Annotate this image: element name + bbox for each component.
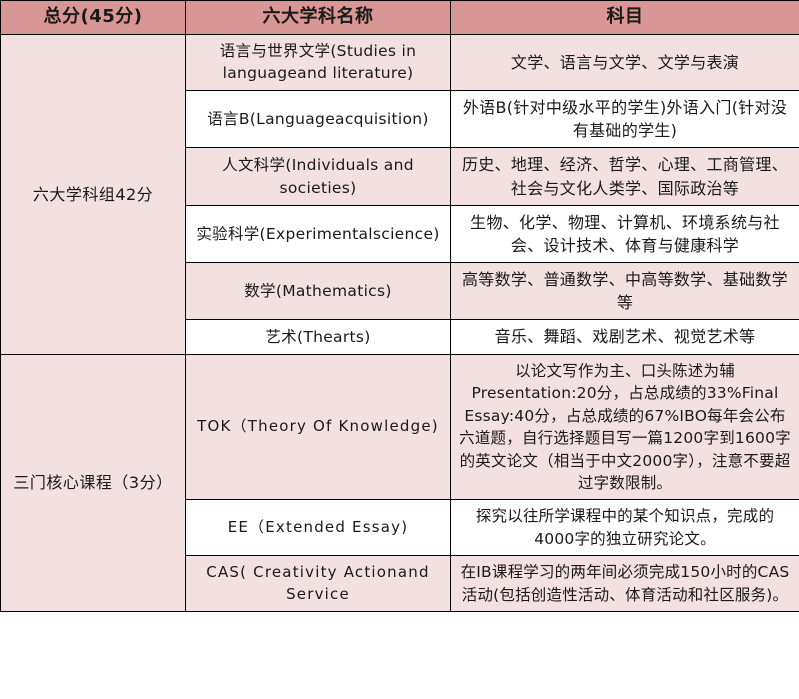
section-label-six-subject-groups: 六大学科组42分 — [1, 35, 186, 355]
core-course-description: 在IB课程学习的两年间必须完成150小时的CAS活动(包括创造性活动、体育活动和… — [451, 556, 799, 612]
subject-list: 文学、语言与文学、文学与表演 — [451, 35, 799, 91]
core-course-name: TOK（Theory Of Knowledge) — [186, 354, 451, 500]
column-header-total-score: 总分(45分) — [1, 1, 186, 35]
table-row: 三门核心课程（3分） TOK（Theory Of Knowledge) 以论文写… — [1, 354, 799, 500]
core-course-description: 以论文写作为主、口头陈述为辅Presentation:20分，占总成绩的33%F… — [451, 354, 799, 500]
subject-group-name: 语言B(Languageacquisition) — [186, 90, 451, 147]
subject-group-name: 艺术(Thearts) — [186, 320, 451, 354]
column-header-subject-group: 六大学科名称 — [186, 1, 451, 35]
section-label-three-core-courses: 三门核心课程（3分） — [1, 354, 186, 612]
core-course-description: 探究以往所学课程中的某个知识点，完成的4000字的独立研究论文。 — [451, 500, 799, 556]
column-header-subjects: 科目 — [451, 1, 799, 35]
header-row: 总分(45分) 六大学科名称 科目 — [1, 1, 799, 35]
subject-list: 外语B(针对中级水平的学生)外语入门(针对没有基础的学生) — [451, 90, 799, 147]
subject-list: 高等数学、普通数学、中高等数学、基础数学等 — [451, 263, 799, 320]
table-header: 总分(45分) 六大学科名称 科目 — [1, 1, 799, 35]
subject-group-name: 人文科学(Individuals and societies) — [186, 148, 451, 205]
subject-list: 音乐、舞蹈、戏剧艺术、视觉艺术等 — [451, 320, 799, 354]
ib-curriculum-table: 总分(45分) 六大学科名称 科目 六大学科组42分 语言与世界文学(Studi… — [0, 0, 799, 612]
subject-list: 历史、地理、经济、哲学、心理、工商管理、社会与文化人类学、国际政治等 — [451, 148, 799, 205]
subject-list: 生物、化学、物理、计算机、环境系统与社会、设计技术、体育与健康科学 — [451, 205, 799, 262]
subject-group-name: 实验科学(Experimentalscience) — [186, 205, 451, 262]
table-row: 六大学科组42分 语言与世界文学(Studies in languageand … — [1, 35, 799, 91]
subject-group-name: 语言与世界文学(Studies in languageand literatur… — [186, 35, 451, 91]
core-course-name: CAS( Creativity Actionand Service — [186, 556, 451, 612]
table-body: 六大学科组42分 语言与世界文学(Studies in languageand … — [1, 35, 799, 612]
core-course-name: EE（Extended Essay) — [186, 500, 451, 556]
subject-group-name: 数学(Mathematics) — [186, 263, 451, 320]
